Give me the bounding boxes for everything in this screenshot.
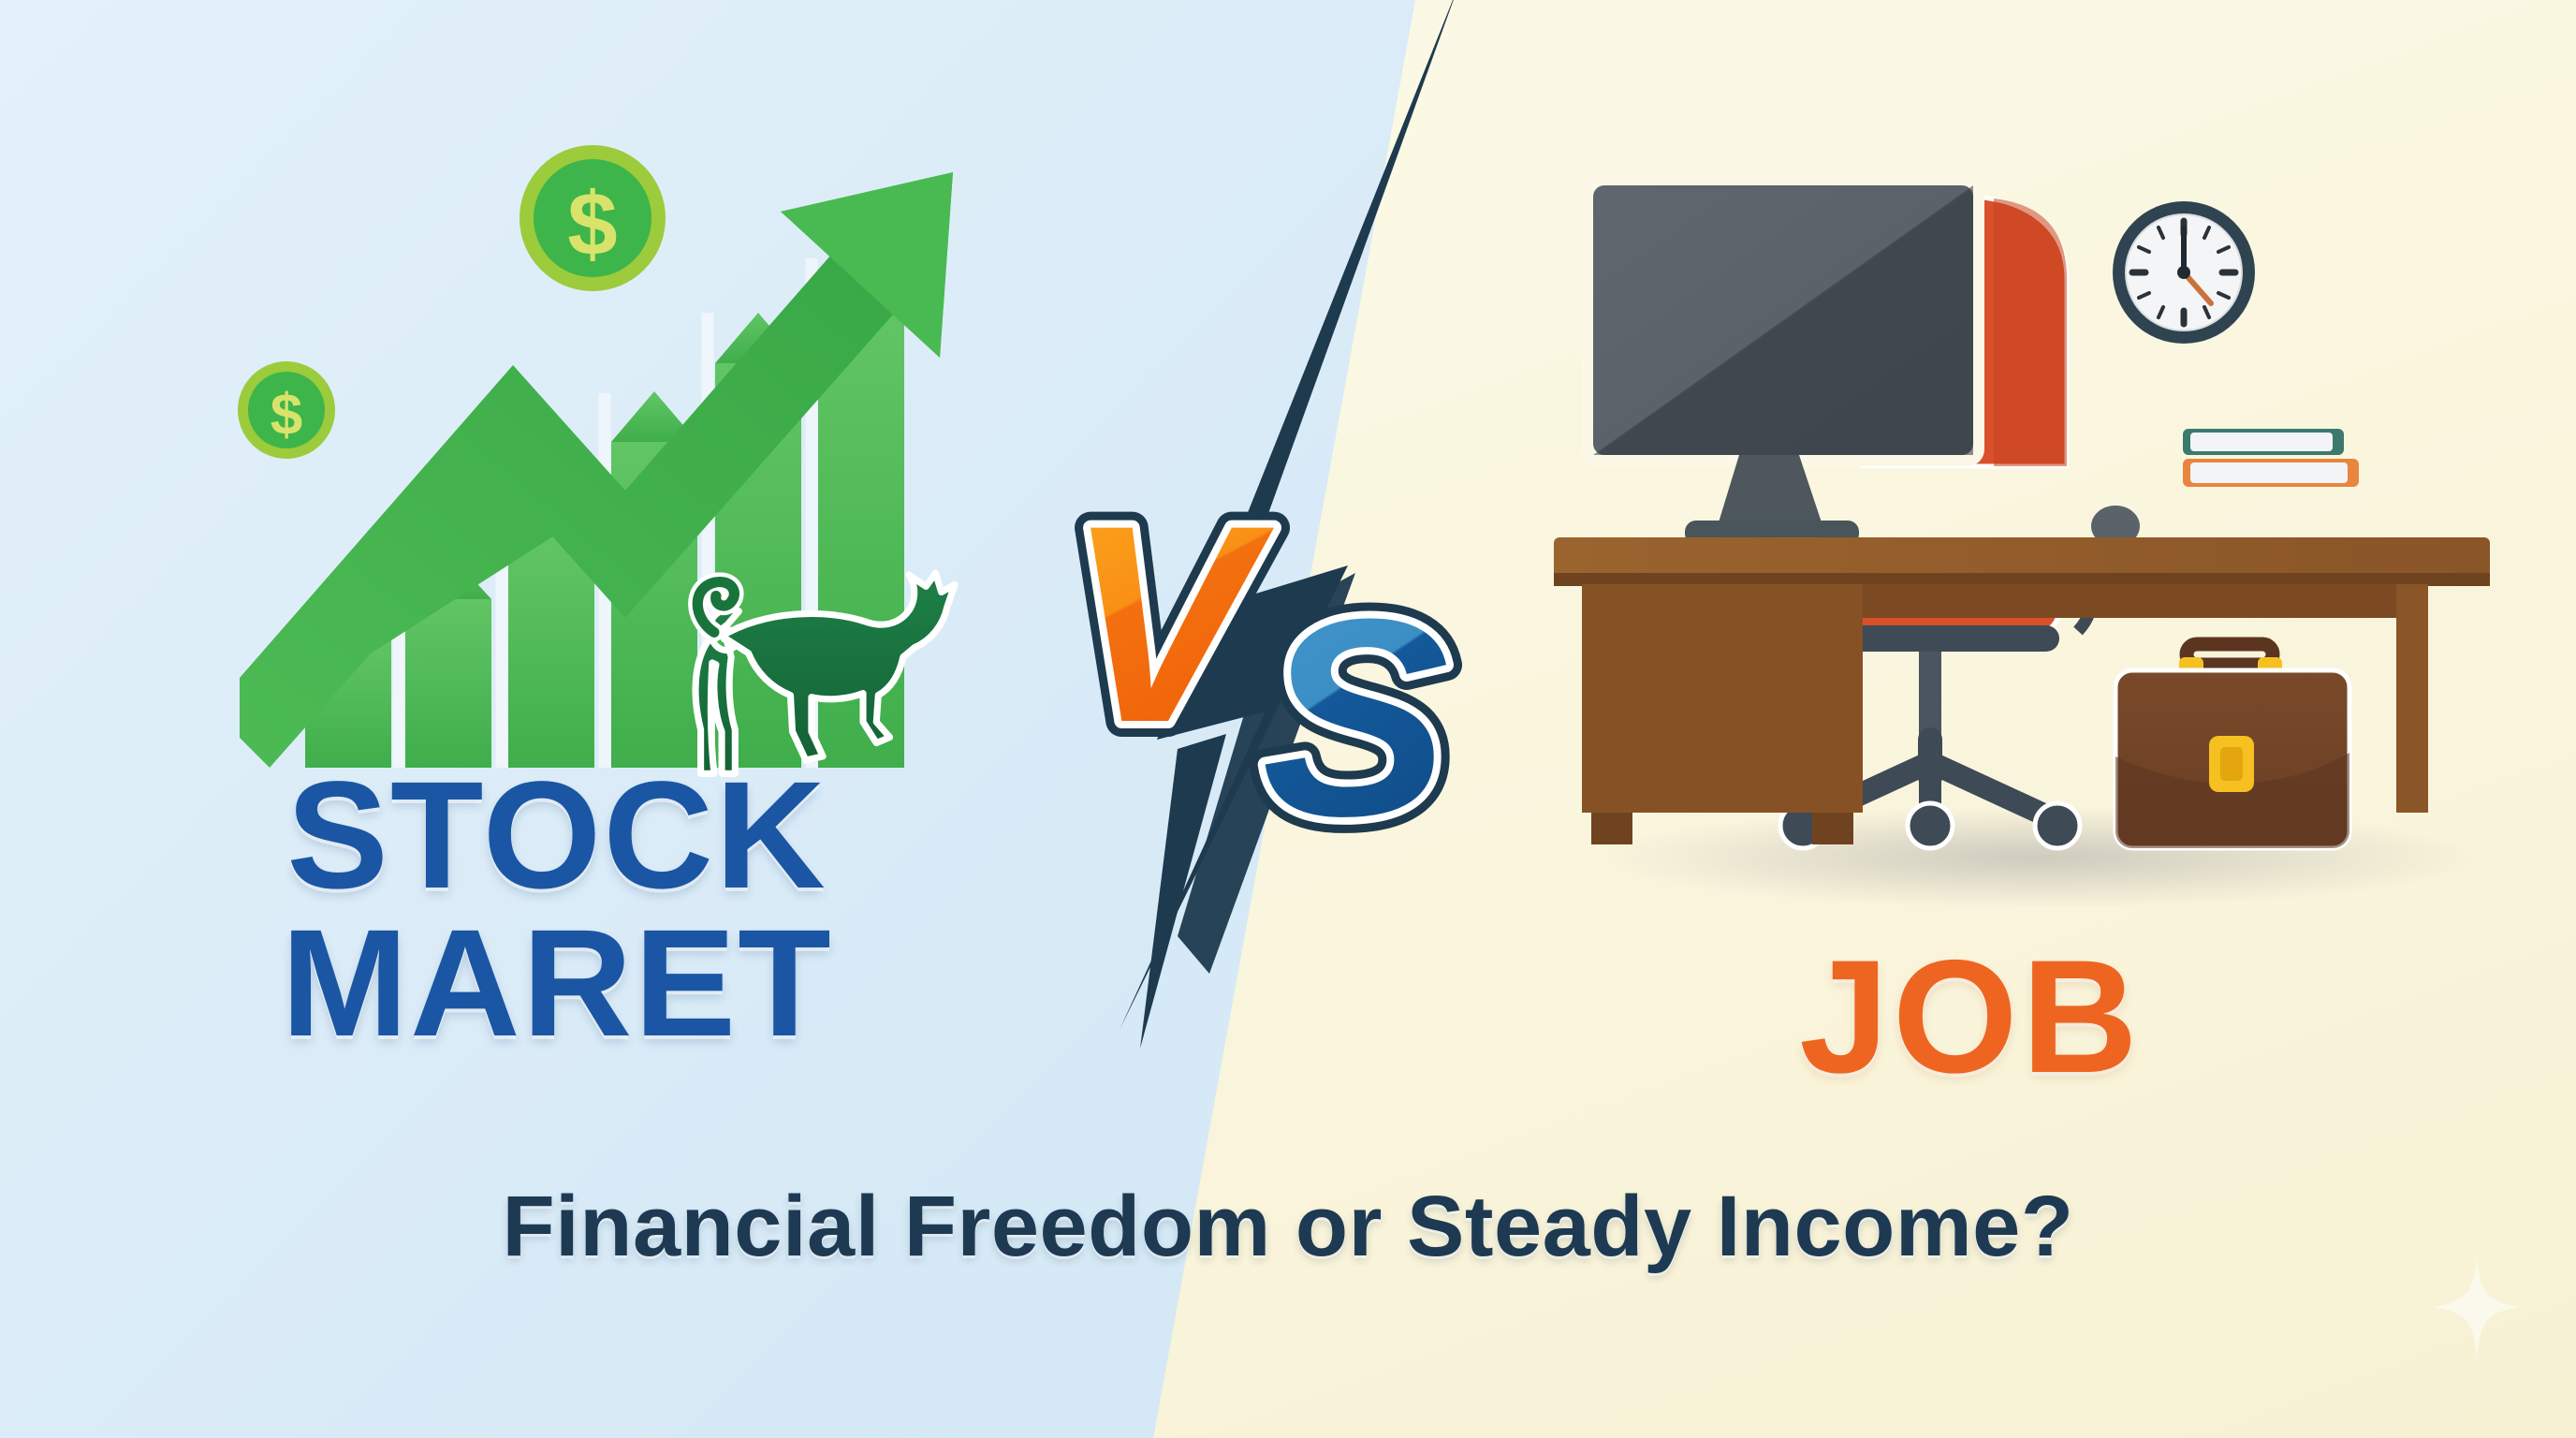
svg-text:$: $ [271, 383, 302, 448]
dollar-coin-small: $ [238, 361, 335, 459]
briefcase-icon [2115, 644, 2349, 848]
sparkle-icon [2434, 1256, 2520, 1357]
left-title-line1: STOCK [286, 749, 827, 920]
rising-stock-chart-artwork: $ $ [232, 112, 1075, 796]
desktop-monitor [1582, 176, 1984, 545]
poster-canvas: $ $ STOCK MARET [0, 0, 2576, 1438]
wall-clock [2095, 183, 2273, 361]
svg-text:V: V [1067, 466, 1278, 781]
dollar-coin-large: $ [520, 145, 666, 291]
right-panel-title: JOB [1460, 936, 2481, 1097]
vs-letter-v: V V V [1067, 466, 1278, 781]
svg-text:S: S [1262, 560, 1451, 861]
svg-text:$: $ [567, 174, 617, 274]
poster-subtitle: Financial Freedom or Steady Income? [0, 1178, 2576, 1276]
vs-badge: V V V S S S [1058, 440, 1582, 861]
vs-letter-s: S S S [1262, 560, 1451, 861]
left-panel-title: STOCK MARET [0, 764, 1114, 1053]
book-stack [2183, 429, 2359, 487]
left-title-line2: MARET [0, 912, 1114, 1054]
office-desk-artwork [1554, 157, 2499, 906]
